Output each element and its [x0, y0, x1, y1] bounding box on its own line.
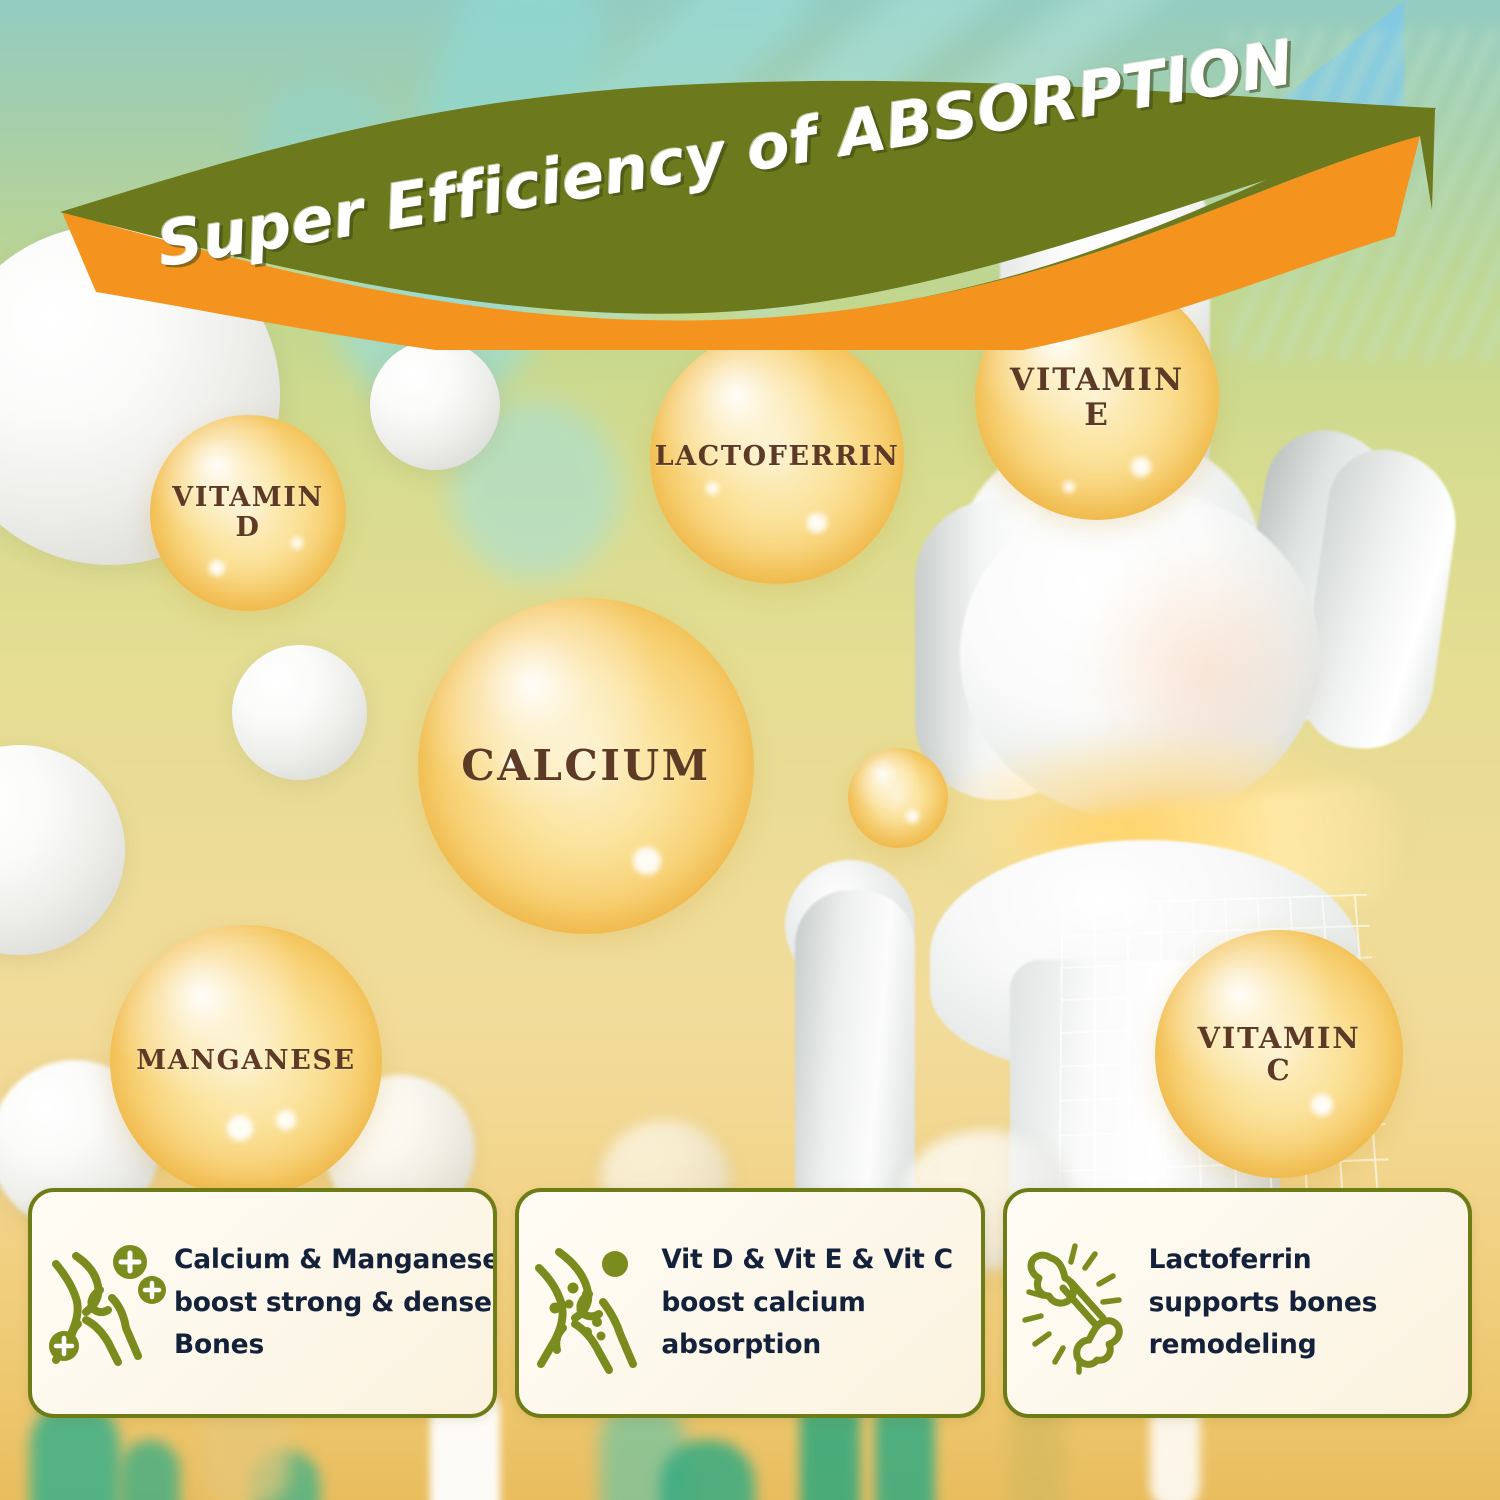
bubble-label: VITAMIN C: [1192, 1022, 1367, 1087]
benefit-card-calcium-manganese[interactable]: Calcium & Manganese boost strong & dense…: [28, 1188, 497, 1418]
nutrient-bubble-small-decorative: [848, 748, 948, 848]
benefit-line: supports bones: [1149, 1282, 1378, 1325]
bubble-label-line1: LACTOFERRIN: [655, 441, 900, 472]
nutrient-bubble-manganese[interactable]: MANGANESE: [110, 925, 382, 1197]
benefit-line: Vit D & Vit E & Vit C: [661, 1239, 953, 1282]
benefit-line: boost calcium: [661, 1282, 953, 1325]
bubble-label-line1: VITAMIN: [1198, 1021, 1361, 1055]
bubble-label: LACTOFERRIN: [649, 442, 906, 472]
benefit-card-vitamins[interactable]: Vit D & Vit E & Vit C boost calcium abso…: [515, 1188, 984, 1418]
bubble-label-line1: VITAMIN: [172, 482, 324, 513]
bubble-label: VITAMIN E: [1004, 363, 1190, 432]
bubble-label-line1: CALCIUM: [461, 741, 710, 790]
bubble-label: MANGANESE: [130, 1046, 361, 1076]
shining-bones-icon: [1017, 1228, 1149, 1378]
bone-joint-particles-icon: [529, 1228, 661, 1378]
bubble-highlight: [633, 847, 661, 875]
bottom-bone-decoration: [120, 1440, 180, 1500]
bubble-label: CALCIUM: [455, 742, 716, 789]
benefit-line: absorption: [661, 1324, 953, 1367]
benefit-card-text: Lactoferrin supports bones remodeling: [1149, 1239, 1378, 1368]
bubble-highlight: [906, 810, 919, 823]
benefit-card-lactoferrin[interactable]: Lactoferrin supports bones remodeling: [1003, 1188, 1472, 1418]
white-sphere: [232, 645, 367, 780]
nutrient-bubble-lactoferrin[interactable]: LACTOFERRIN: [650, 330, 904, 584]
infographic-canvas: VITAMIN D LACTOFERRIN VITAMIN E CALCIUM: [0, 0, 1500, 1500]
white-sphere: [370, 340, 500, 470]
nutrient-bubble-vitamin-c[interactable]: VITAMIN C: [1155, 930, 1403, 1178]
benefit-card-text: Calcium & Manganese boost strong & dense…: [174, 1239, 497, 1368]
white-sphere: [0, 745, 125, 955]
benefit-cards-row: Calcium & Manganese boost strong & dense…: [0, 1188, 1500, 1418]
benefit-line: Calcium & Manganese: [174, 1239, 497, 1282]
benefit-card-text: Vit D & Vit E & Vit C boost calcium abso…: [661, 1239, 953, 1368]
nutrient-bubble-vitamin-d[interactable]: VITAMIN D: [150, 415, 346, 611]
bubble-highlight: [1063, 481, 1075, 493]
bubble-highlight: [209, 560, 225, 576]
bubble-label-line2: C: [1267, 1053, 1292, 1087]
bubble-label-line1: VITAMIN: [1010, 362, 1184, 398]
benefit-line: boost strong & dense: [174, 1282, 497, 1325]
bubble-label-line1: MANGANESE: [136, 1045, 355, 1076]
bubble-sphere: [848, 748, 948, 848]
bubble-highlight: [1131, 457, 1151, 477]
bone-joint-plus-icon: [42, 1228, 174, 1378]
benefit-line: Bones: [174, 1324, 497, 1367]
bubble-highlight: [276, 1110, 296, 1130]
benefit-line: remodeling: [1149, 1324, 1378, 1367]
bubble-label-line2: E: [1084, 397, 1110, 433]
bubble-label-line2: D: [235, 512, 260, 543]
bubble-label: VITAMIN D: [166, 483, 330, 543]
benefit-line: Lactoferrin: [1149, 1239, 1378, 1282]
nutrient-bubble-calcium[interactable]: CALCIUM: [418, 598, 754, 934]
bubble-highlight: [1311, 1094, 1333, 1116]
